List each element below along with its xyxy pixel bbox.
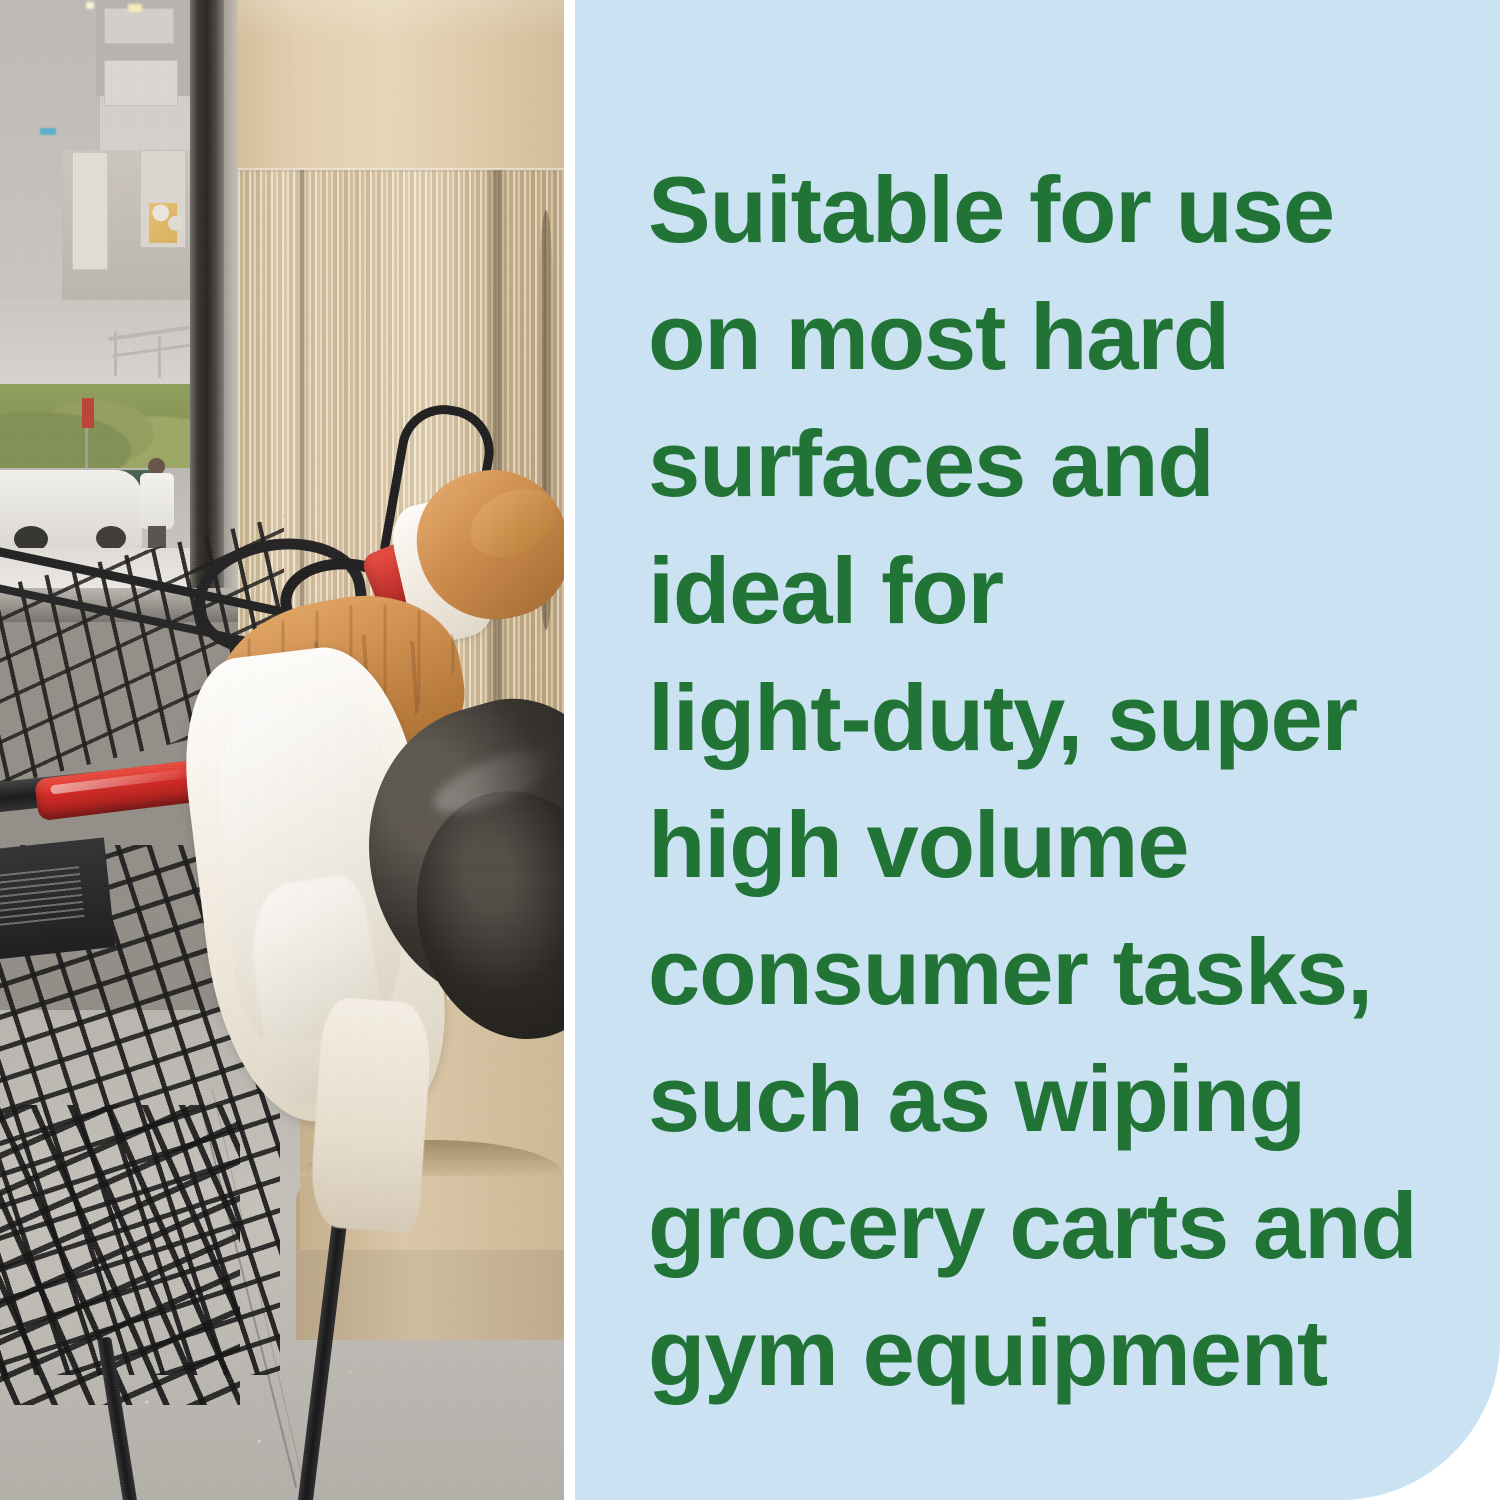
- exterior-teal-sign: [40, 128, 56, 135]
- pedestrian-jacket: [140, 473, 174, 529]
- exterior-light-1: [128, 4, 142, 12]
- copy-line: gym equipment: [648, 1289, 1478, 1416]
- exterior-red-street-sign: [82, 398, 94, 428]
- copy-line: on most hard: [648, 273, 1478, 400]
- exterior-pedestrian: [140, 458, 174, 554]
- copy-line: consumer tasks,: [648, 908, 1478, 1035]
- cart-lower-basket-mesh: [0, 1105, 240, 1405]
- exterior-doorway-left: [72, 152, 108, 270]
- column-cladding-seam: [238, 168, 564, 172]
- copy-line: Suitable for use: [648, 146, 1478, 273]
- copy-line: grocery carts and: [648, 1162, 1478, 1289]
- exterior-window-upper: [104, 8, 174, 44]
- cart-info-plate-text: [0, 866, 84, 928]
- marketing-copy-panel: Suitable for use on most hard surfaces a…: [575, 0, 1500, 1500]
- product-feature-card: Suitable for use on most hard surfaces a…: [0, 0, 1500, 1500]
- marketing-copy-text: Suitable for use on most hard surfaces a…: [648, 146, 1478, 1416]
- exterior-window-mid: [104, 60, 178, 106]
- cleaning-wipe-drape: [308, 996, 434, 1233]
- exterior-light-2: [86, 2, 94, 9]
- copy-line: such as wiping: [648, 1035, 1478, 1162]
- copy-line: ideal for: [648, 527, 1478, 654]
- column-highlight: [238, 0, 564, 40]
- exterior-foliage-reflection: [146, 196, 188, 238]
- copy-line: light-duty, super: [648, 654, 1478, 781]
- product-in-use-photo: [0, 0, 564, 1500]
- copy-line: surfaces and: [648, 400, 1478, 527]
- exterior-white-car: [0, 470, 142, 552]
- copy-line: high volume: [648, 781, 1478, 908]
- window-mullion: [190, 0, 226, 620]
